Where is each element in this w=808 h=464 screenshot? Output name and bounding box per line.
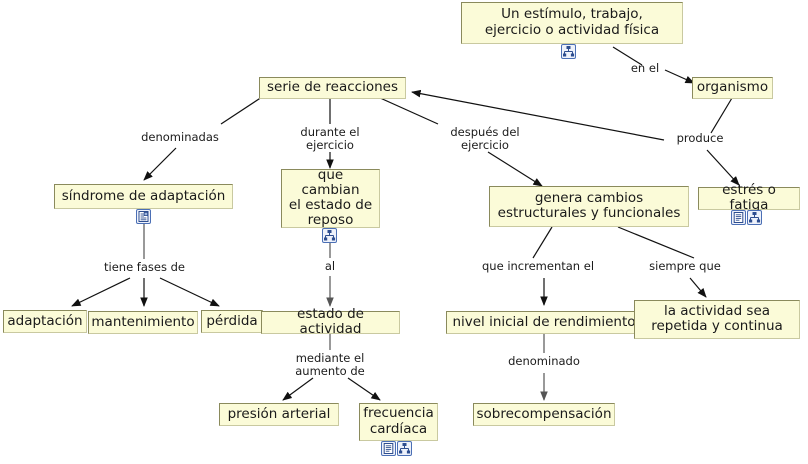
node-sobrecompensacion[interactable]: sobrecompensación: [473, 403, 615, 426]
node-quecambian-resources[interactable]: [322, 228, 337, 243]
link-label-denominado[interactable]: denominado: [505, 355, 583, 368]
link-label-durante-el-ejercicio[interactable]: durante el ejercicio: [295, 126, 365, 152]
link-label-produce[interactable]: produce: [668, 132, 732, 145]
hierarchy-icon[interactable]: [747, 210, 762, 225]
note-image-icon[interactable]: [136, 209, 151, 224]
node-presion-arterial[interactable]: presión arterial: [219, 403, 339, 426]
node-estimulo-resources[interactable]: [561, 44, 576, 59]
hierarchy-icon[interactable]: [561, 44, 576, 59]
node-genera-cambios[interactable]: genera cambios estructurales y funcional…: [489, 186, 689, 227]
concept-map-canvas[interactable]: Un estímulo, trabajo, ejercicio o activi…: [0, 0, 808, 464]
node-serie-de-reacciones[interactable]: serie de reacciones: [259, 77, 406, 99]
connector-layer: [0, 0, 808, 464]
hierarchy-icon[interactable]: [322, 228, 337, 243]
node-mantenimiento[interactable]: mantenimiento: [88, 311, 198, 334]
link-label-en-el[interactable]: en el: [625, 62, 665, 75]
note-icon[interactable]: [731, 210, 746, 225]
hierarchy-icon[interactable]: [397, 441, 412, 456]
link-label-al[interactable]: al: [320, 260, 340, 273]
node-adaptacion[interactable]: adaptación: [3, 310, 87, 333]
link-label-despues-del-ejercicio[interactable]: después del ejercicio: [440, 126, 530, 152]
node-estres-resources[interactable]: [731, 210, 762, 225]
link-label-que-incrementan-el[interactable]: que incrementan el: [482, 260, 594, 273]
node-sindrome-de-adaptacion[interactable]: síndrome de adaptación: [54, 184, 233, 209]
note-icon[interactable]: [381, 441, 396, 456]
node-estado-de-actividad[interactable]: estado de actividad: [261, 311, 400, 334]
node-frecuencia-cardiaca[interactable]: frecuencia cardíaca: [359, 403, 438, 441]
link-label-mediante-el-aumento-de[interactable]: mediante el aumento de: [288, 352, 372, 378]
node-nivel-inicial-de-rendimiento[interactable]: nivel inicial de rendimiento: [446, 311, 642, 334]
node-perdida[interactable]: pérdida: [201, 310, 263, 333]
node-organismo[interactable]: organismo: [692, 77, 773, 99]
node-estimulo[interactable]: Un estímulo, trabajo, ejercicio o activi…: [461, 2, 683, 44]
node-frecuencia-resources[interactable]: [381, 441, 412, 456]
node-sindrome-resources[interactable]: [136, 209, 151, 224]
link-label-denominadas[interactable]: denominadas: [137, 131, 223, 144]
link-label-tiene-fases-de[interactable]: tiene fases de: [98, 261, 191, 274]
node-que-cambian-estado-reposo[interactable]: que cambian el estado de reposo: [281, 169, 380, 228]
node-estres-o-fatiga[interactable]: estrés o fatiga: [698, 187, 800, 210]
node-actividad-repetida-continua[interactable]: la actividad sea repetida y continua: [634, 300, 800, 339]
link-label-siempre-que[interactable]: siempre que: [645, 260, 725, 273]
